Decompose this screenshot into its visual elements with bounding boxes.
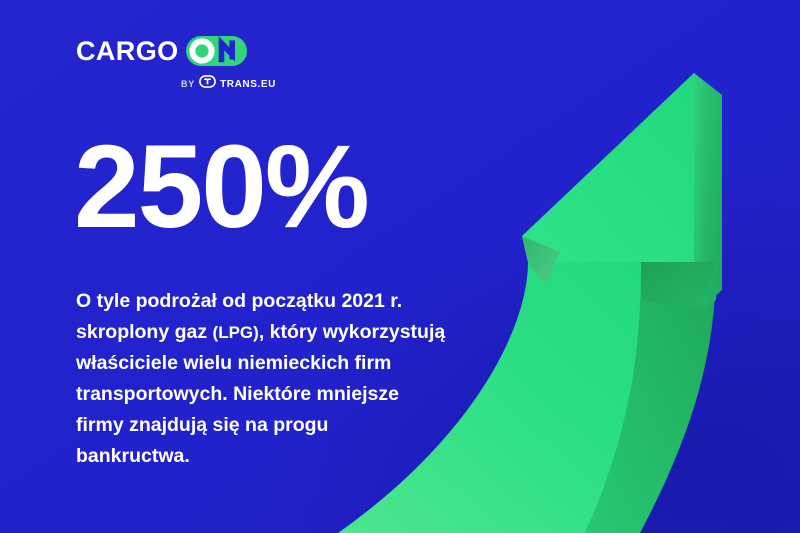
logo-by-label: BY: [181, 79, 195, 89]
body-copy: O tyle podrożał od początku 2021 r. skro…: [76, 286, 496, 472]
infographic-card: CARGO BY TRANS.EU 250%: [0, 0, 800, 533]
body-line-6: bankructwa.: [76, 441, 496, 472]
body-line-5: firmy znajdują się na progu: [76, 410, 496, 441]
logo-trans-eu-text: TRANS.EU: [220, 79, 276, 90]
stat-percentage: 250%: [74, 128, 368, 246]
body-lpg-abbr: (LPG): [213, 323, 259, 342]
cargoon-logo: CARGO BY TRANS.EU: [76, 36, 276, 92]
logo-cargo-text: CARGO: [76, 36, 179, 66]
logo-tagline: BY TRANS.EU: [76, 75, 280, 93]
logo-on-mark: [186, 36, 247, 66]
logo-wordmark: CARGO: [76, 36, 276, 66]
body-line-4: transportowych. Niektóre mniejsze: [76, 379, 496, 410]
trans-t-badge-icon: [199, 75, 216, 93]
body-line-2: skroplony gaz (LPG), który wykorzystują: [76, 317, 496, 348]
body-line-2-part-b: , który wykorzystują: [259, 321, 445, 343]
body-line-1: O tyle podrożał od początku 2021 r.: [76, 286, 496, 317]
body-line-2-part-a: skroplony gaz: [76, 321, 213, 343]
body-line-3: właściciele wielu niemieckich firm: [76, 348, 496, 379]
